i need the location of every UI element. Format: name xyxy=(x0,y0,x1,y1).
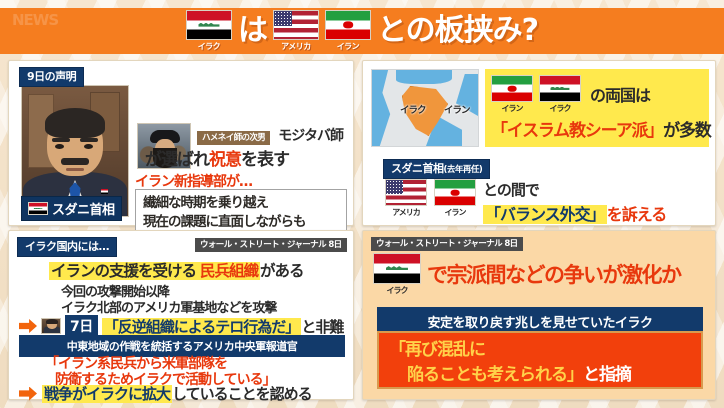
denounce-row: 7日 「反逆組織によるテロ行為だ」と非難 xyxy=(19,315,343,337)
flag-iran-group-2: イラン xyxy=(434,179,476,218)
header-flag-usa: アメリカ xyxy=(273,10,319,52)
news-watermark-logo: NEWS xyxy=(12,14,58,27)
map-label-iran: イラン xyxy=(444,102,470,116)
attack-line-2: イラク北部のアメリカ軍基地などを攻撃 xyxy=(61,297,276,316)
chaos-quote-box: 「再び混乱に 陥ることも考えられる」と指摘 xyxy=(377,331,703,389)
between-text: との間で xyxy=(483,179,666,200)
sudani-name: スダニ首相 xyxy=(391,162,444,175)
arrow-right-icon xyxy=(19,387,37,401)
flag-usa-group: アメリカ xyxy=(385,179,427,218)
header-title-tail: との板挟み? xyxy=(377,16,538,46)
photo-eye-right xyxy=(84,144,93,149)
usa-flag-icon xyxy=(273,10,319,40)
day-badge-7: 7日 xyxy=(65,315,98,337)
photo-hair xyxy=(45,108,105,138)
wsj-source-tag: ウォール・ストリート・ジャーナル 8日 xyxy=(371,237,523,251)
sudani-sub: (去年再任) xyxy=(444,165,483,175)
header-flag-usa-label: アメリカ xyxy=(281,41,311,52)
mojtaba-name: モジタバ師 xyxy=(278,128,343,144)
shia-quote-text: 「イスラム教シーア派」 xyxy=(491,121,663,141)
flag-iraq-group: イラク xyxy=(539,75,581,114)
both-countries-text: の両国は xyxy=(590,82,650,114)
militia-text-a: イランの支援を受ける xyxy=(49,262,198,280)
thumb-hair xyxy=(46,319,58,324)
iran-flag-icon xyxy=(491,75,533,102)
iran-flag-icon xyxy=(325,10,371,40)
flag-iran-label-2: イラン xyxy=(445,207,466,218)
war-expansion-highlight: 戦争がイラクに拡大 xyxy=(42,385,172,403)
iran-flag-icon xyxy=(434,179,476,206)
denounce-tail: と非難 xyxy=(301,318,343,336)
militia-text-b: 民兵組織 xyxy=(198,262,260,280)
header-flag-iraq: イラク xyxy=(186,10,232,52)
sudani-thumbnail-photo xyxy=(41,318,61,334)
flag-iran-group: イラン xyxy=(491,75,533,114)
chaos-quote-tail: と指摘 xyxy=(583,365,631,385)
sectarian-headline-row: イラク で宗派間などの争いが激化か xyxy=(373,253,681,296)
sudani-reappointed-tag: スダニ首相(去年再任) xyxy=(383,157,490,179)
militia-text-c: がある xyxy=(260,262,304,280)
panel-sectarian-conflict: ウォール・ストリート・ジャーナル 8日 イラク で宗派間などの争いが激化か 安定… xyxy=(362,230,716,400)
header-flag-iraq-label: イラク xyxy=(198,41,221,52)
iraq-flag-icon xyxy=(373,253,421,284)
panel-iran-statement: 9日の声明 スダニ首相 ハメネイ師の次男 モジタバ師 が選ばれ祝意を表す イラン… xyxy=(8,60,354,226)
iraq-flag-icon xyxy=(539,75,581,102)
photo-mustache xyxy=(61,158,89,165)
shia-tail-text: が多数 xyxy=(663,121,710,141)
header-title-row: イラク は アメリカ イラン との板挟み? xyxy=(186,10,538,52)
flag-iraq-label: イラク xyxy=(387,285,408,296)
flag-usa-label: アメリカ xyxy=(392,207,420,218)
chaos-quote-line-1: 「再び混乱に xyxy=(389,335,691,360)
photo-brow-left xyxy=(52,138,70,142)
chaos-quote-text: 陥ることも考えられる」 xyxy=(407,365,583,385)
balance-tail-text: を訴える xyxy=(607,205,667,224)
sudani-tag-inner: スダニ首相(去年再任) xyxy=(383,159,490,179)
flag-iraq-label: イラク xyxy=(550,103,571,114)
map-sea-top xyxy=(396,70,452,84)
denounce-line: 「反逆組織によるテロ行為だ」と非難 xyxy=(102,316,344,337)
khamenei-son-tag: ハメネイ師の次男 xyxy=(197,131,270,145)
chaos-quote-line-2: 陥ることも考えられる」と指摘 xyxy=(407,360,691,385)
day-statement-tag: 9日の声明 xyxy=(19,67,84,87)
selected-text-a: が選ばれ xyxy=(145,150,209,170)
panel-iraq-militia: イラク国内には… ウォール・ストリート・ジャーナル 8日 イランの支援を受ける民… xyxy=(8,230,354,400)
iraq-flag-icon xyxy=(28,202,48,215)
war-expansion-tail: していることを認める xyxy=(172,385,312,403)
flag-iran-label: イラン xyxy=(502,103,523,114)
flag-iraq-group: イラク xyxy=(373,253,421,296)
balance-line: 「バランス外交」を訴える xyxy=(483,201,666,225)
shia-majority-line: 「イスラム教シーア派」が多数 xyxy=(491,116,703,141)
quote-line: 繊細な時期を乗り越え xyxy=(143,194,339,213)
map-label-iraq: イラク xyxy=(400,102,426,116)
khamenei-son-row: ハメネイ師の次男 モジタバ師 xyxy=(197,125,343,145)
sudani-caption: スダニ首相 xyxy=(21,196,122,221)
arrow-right-icon xyxy=(19,319,37,333)
header-banner: NEWS イラク は アメリカ イラン との板挟み? xyxy=(0,8,724,54)
war-expansion-line: 戦争がイラクに拡大していることを認める xyxy=(42,383,312,404)
header-flag-iran: イラン xyxy=(325,10,371,52)
militia-line: イランの支援を受ける民兵組織がある xyxy=(49,259,304,281)
selected-text-c: を表す xyxy=(241,150,289,170)
usa-flag-icon xyxy=(385,179,427,206)
iraq-flag-icon xyxy=(186,10,232,40)
sudani-caption-label: スダニ首相 xyxy=(52,199,115,218)
balance-quote-text: 「バランス外交」 xyxy=(483,205,607,224)
photo-eye-left xyxy=(55,144,64,149)
war-expansion-row: 戦争がイラクに拡大していることを認める xyxy=(19,383,312,404)
denounce-quote: 「反逆組織によるテロ行為だ」 xyxy=(102,318,302,336)
selected-congrats-line: が選ばれ祝意を表す xyxy=(145,145,289,170)
photo-mouth xyxy=(66,168,84,171)
balance-diplomacy-row: アメリカ イラン との間で 「バランス外交」を訴える xyxy=(385,179,666,225)
shia-flag-row: イラン イラク の両国は xyxy=(491,75,703,114)
inside-iraq-tag: イラク国内には… xyxy=(17,237,117,257)
shia-majority-box: イラン イラク の両国は 「イスラム教シーア派」が多数 xyxy=(485,69,709,147)
middle-east-map: イラク イラン xyxy=(371,69,479,147)
panel-shia-balance: イラク イラン イラン イラク の両国は 「イスラム教シーア派」が多数 スダニ首… xyxy=(362,60,716,226)
header-connector: は xyxy=(238,16,267,46)
wsj-source-tag: ウォール・ストリート・ジャーナル 8日 xyxy=(195,238,347,252)
sectarian-headline: で宗派間などの争いが激化か xyxy=(427,253,681,289)
header-flag-iran-label: イラン xyxy=(337,41,360,52)
photo-brow-right xyxy=(80,138,98,142)
balance-text-group: との間で 「バランス外交」を訴える xyxy=(483,179,666,225)
new-leadership-line: イラン新指導部が… xyxy=(135,171,252,191)
congratulation-word: 祝意 xyxy=(209,150,241,170)
photo-flag-pin xyxy=(101,189,108,194)
map-sea-left xyxy=(372,70,398,146)
